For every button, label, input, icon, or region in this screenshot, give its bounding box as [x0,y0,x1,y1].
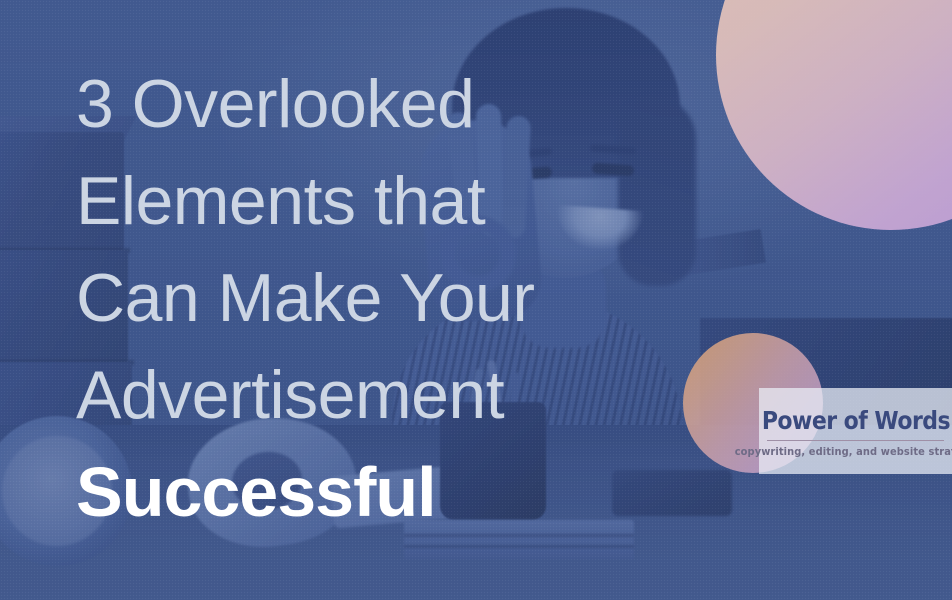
headline-line-5-emphasis: Successful [76,444,676,541]
featured-image-canvas: 3 Overlooked Elements that Can Make Your… [0,0,952,600]
headline-line-4: Advertisement [76,347,676,444]
logo-title: Power of Words [761,407,949,434]
headline: 3 Overlooked Elements that Can Make Your… [76,56,676,541]
logo-tagline: copywriting, editing, and website strate… [735,446,952,458]
logo-card[interactable]: Power of Words copywriting, editing, and… [759,388,952,474]
headline-line-2: Elements that [76,153,676,250]
headline-line-3: Can Make Your [76,250,676,347]
logo-divider [767,440,944,441]
headline-line-1: 3 Overlooked [76,56,676,153]
